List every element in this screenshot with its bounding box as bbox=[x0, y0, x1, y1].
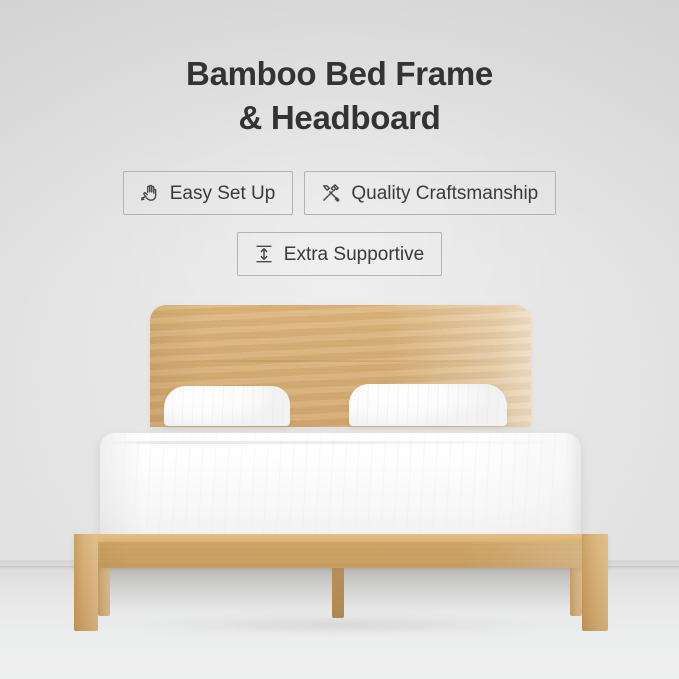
frame-rail-top-edge bbox=[74, 534, 608, 542]
pillow-folds bbox=[164, 386, 290, 426]
mattress-texture bbox=[100, 433, 581, 539]
bed-leg-front-left bbox=[74, 534, 98, 631]
product-photo bbox=[0, 0, 679, 679]
bed-leg-front-right bbox=[582, 534, 608, 631]
mattress-seam bbox=[104, 441, 577, 444]
product-marketing-image: Bamboo Bed Frame & Headboard Easy Set Up bbox=[0, 0, 679, 679]
pillow-folds bbox=[349, 384, 507, 426]
pillow-right bbox=[349, 384, 507, 426]
bed-frame-rail bbox=[74, 534, 608, 568]
bed-center-support-leg bbox=[332, 560, 344, 618]
frame-rail-inset-panel bbox=[100, 542, 582, 568]
floor-contact-shadow bbox=[60, 618, 620, 640]
headboard-grain-band bbox=[150, 360, 531, 362]
mattress bbox=[100, 433, 581, 539]
pillow-left bbox=[164, 386, 290, 426]
